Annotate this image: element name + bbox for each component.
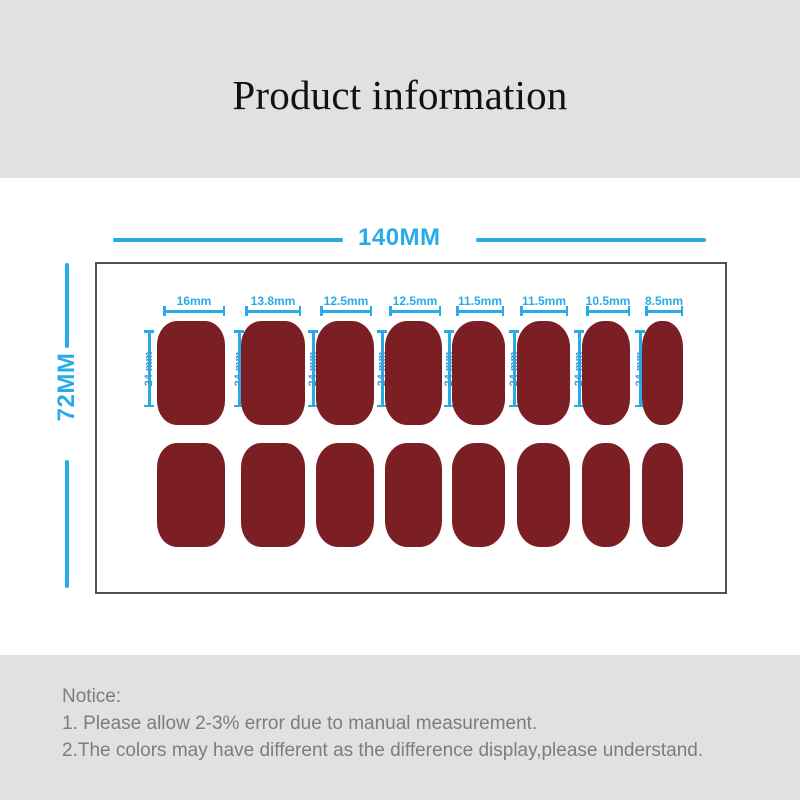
nail-sticker-top-1 (157, 321, 225, 425)
overall-width-label: 140MM (358, 224, 441, 252)
header-band: Product information (0, 0, 800, 178)
callout-tick-top (444, 330, 454, 333)
nail-sticker-bottom-7 (582, 443, 630, 547)
callout-tick-left (163, 306, 166, 316)
callout-bar (586, 310, 630, 313)
nail-sticker-bottom-5 (452, 443, 505, 547)
nail-width-label-6: 11.5mm (522, 295, 566, 308)
callout-tick-left (320, 306, 323, 316)
callout-tick-right (628, 306, 631, 316)
nail-sticker-bottom-3 (316, 443, 374, 547)
nail-sticker-top-2 (241, 321, 305, 425)
callout-tick-bottom (144, 405, 154, 408)
callout-tick-top (509, 330, 519, 333)
callout-tick-left (389, 306, 392, 316)
callout-tick-right (566, 306, 569, 316)
notice-line-1: 1. Please allow 2-3% error due to manual… (62, 710, 703, 737)
callout-bar (456, 310, 504, 313)
nail-width-label-8: 8.5mm (645, 295, 683, 308)
callout-tick-top (574, 330, 584, 333)
callout-tick-top (635, 330, 645, 333)
nail-sticker-bottom-6 (517, 443, 570, 547)
notice-line-2: 2.The colors may have different as the d… (62, 737, 703, 764)
overall-width-line-left (113, 238, 343, 242)
callout-tick-right (223, 306, 226, 316)
notice-text-block: Notice: 1. Please allow 2-3% error due t… (62, 683, 703, 764)
nail-sticker-bottom-2 (241, 443, 305, 547)
callout-tick-top (377, 330, 387, 333)
callout-bar (245, 310, 301, 313)
callout-tick-right (299, 306, 302, 316)
nail-sticker-top-3 (316, 321, 374, 425)
callout-bar (320, 310, 372, 313)
overall-height-label: 72MM (53, 340, 81, 434)
nail-width-label-5: 11.5mm (458, 295, 502, 308)
callout-tick-right (439, 306, 442, 316)
nail-width-label-7: 10.5mm (586, 295, 631, 308)
nail-sticker-top-6 (517, 321, 570, 425)
overall-height-line-top (65, 263, 69, 348)
nail-sticker-bottom-1 (157, 443, 225, 547)
callout-tick-left (586, 306, 589, 316)
product-diagram: 140MM 72MM 16mm 13.8mm 12.5mm 12.5mm 11.… (0, 178, 800, 655)
nail-height-callout-1: 24 mm (141, 330, 157, 407)
callout-tick-top (234, 330, 244, 333)
callout-tick-left (456, 306, 459, 316)
nail-width-label-4: 12.5mm (393, 295, 438, 308)
nail-width-label-3: 12.5mm (324, 295, 369, 308)
nail-sticker-bottom-8 (642, 443, 683, 547)
callout-tick-left (245, 306, 248, 316)
callout-tick-right (502, 306, 505, 316)
callout-bar (645, 310, 683, 313)
nail-width-label-2: 13.8mm (251, 295, 296, 308)
nail-sticker-top-7 (582, 321, 630, 425)
callout-tick-right (370, 306, 373, 316)
callout-tick-top (144, 330, 154, 333)
overall-height-line-bottom (65, 460, 69, 588)
callout-bar (520, 310, 568, 313)
callout-tick-left (645, 306, 648, 316)
notice-band: Notice: 1. Please allow 2-3% error due t… (0, 655, 800, 800)
callout-bar (163, 310, 225, 313)
nail-sticker-bottom-4 (385, 443, 442, 547)
page-title: Product information (0, 71, 800, 119)
nail-height-label-1: 24 mm (143, 351, 155, 386)
overall-width-line-right (476, 238, 706, 242)
callout-tick-right (681, 306, 684, 316)
nail-sticker-top-5 (452, 321, 505, 425)
callout-tick-top (308, 330, 318, 333)
nail-sticker-top-8 (642, 321, 683, 425)
nail-sticker-top-4 (385, 321, 442, 425)
nail-width-label-1: 16mm (177, 295, 212, 308)
notice-heading: Notice: (62, 683, 703, 710)
callout-tick-left (520, 306, 523, 316)
callout-bar (389, 310, 441, 313)
